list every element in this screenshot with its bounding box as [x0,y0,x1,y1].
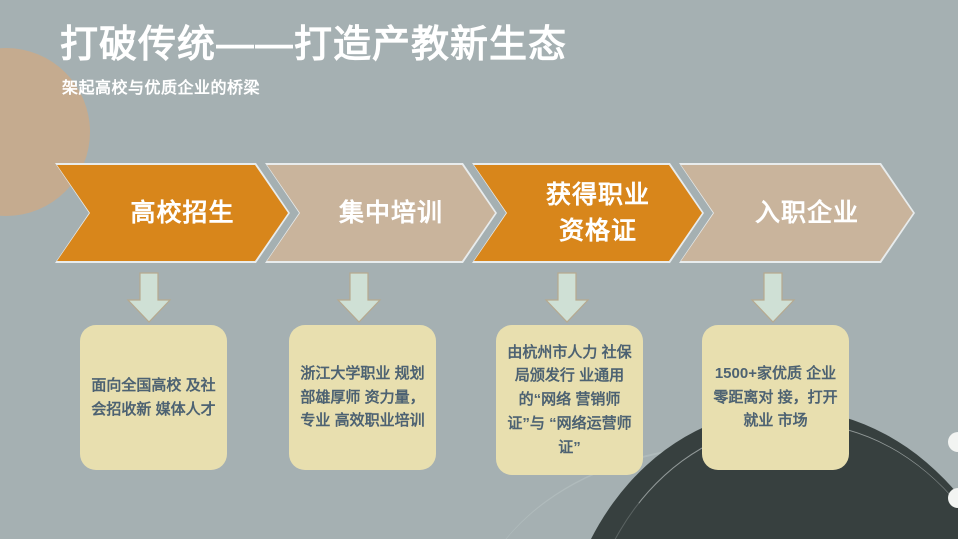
process-step-chevron-2[interactable]: 集中培训 [265,163,497,263]
step-note-text: 浙江大学职业 规划部雄厚师 资力量，专业 高效职业培训 [289,362,436,433]
step-note-box-2[interactable]: 浙江大学职业 规划部雄厚师 资力量，专业 高效职业培训 [289,325,436,470]
process-chevron-row: 高校招生 集中培训 获得职业 资格证 入职企业 [55,163,915,263]
step-note-text: 面向全国高校 及社会招收新 媒体人才 [80,374,227,421]
process-step-label: 入职企业 [735,195,859,231]
slide-canvas: 打破传统——打造产教新生态 架起高校与优质企业的桥梁 高校招生 集中培训 获得职… [0,0,958,539]
down-arrow-icon-2 [336,272,382,324]
page-title: 打破传统——打造产教新生态 [60,24,567,68]
process-step-label: 高校招生 [110,195,234,231]
step-note-box-4[interactable]: 1500+家优质 企业零距离对 接，打开就业 市场 [702,325,849,470]
decor-dot-upper [948,432,958,452]
process-step-chevron-4[interactable]: 入职企业 [679,163,915,263]
step-note-box-3[interactable]: 由杭州市人力 社保局颁发行 业通用的“网络 营销师证”与 “网络运营师证” [496,325,643,475]
down-arrow-icon-4 [750,272,796,324]
step-note-text: 由杭州市人力 社保局颁发行 业通用的“网络 营销师证”与 “网络运营师证” [496,341,643,459]
process-step-chevron-1[interactable]: 高校招生 [55,163,290,263]
down-arrow-icon-3 [544,272,590,324]
process-step-label: 集中培训 [319,195,443,231]
page-subtitle: 架起高校与优质企业的桥梁 [62,74,567,98]
process-step-chevron-3[interactable]: 获得职业 资格证 [472,163,704,263]
down-arrow-icon-1 [126,272,172,324]
step-note-box-1[interactable]: 面向全国高校 及社会招收新 媒体人才 [80,325,227,470]
slide-header: 打破传统——打造产教新生态 架起高校与优质企业的桥梁 [60,24,567,98]
process-step-label: 获得职业 资格证 [526,177,650,250]
step-note-text: 1500+家优质 企业零距离对 接，打开就业 市场 [702,362,849,433]
